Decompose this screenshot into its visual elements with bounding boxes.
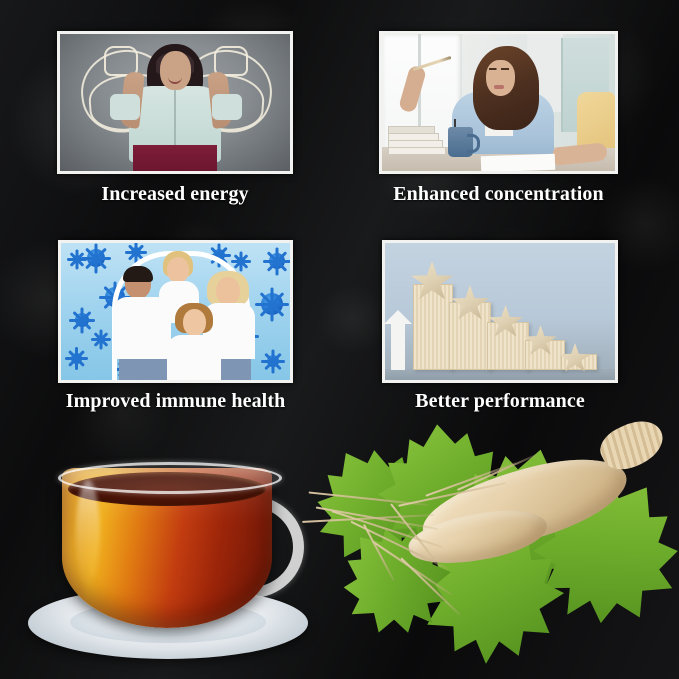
- family-member-older-girl: [165, 305, 223, 380]
- benefit-card-enhanced-concentration: Enhanced concentration: [379, 31, 618, 174]
- benefit-label-increased-energy: Increased energy: [57, 183, 293, 206]
- glass-highlight: [76, 480, 100, 590]
- virus-particle: [71, 353, 82, 364]
- virus-particle: [261, 293, 283, 315]
- tea-cup-illustration: [18, 450, 318, 665]
- photo-frame: [382, 240, 618, 383]
- woman-sleeve-left: [110, 94, 140, 120]
- person-shirt: [167, 335, 221, 380]
- person-head: [167, 257, 189, 283]
- benefit-image-improved-immune-health: [61, 243, 290, 380]
- benefit-image-increased-energy: [60, 34, 290, 171]
- photo-frame: [58, 240, 293, 383]
- surface: [385, 369, 615, 380]
- ginseng-root-illustration: [300, 418, 679, 679]
- book-stack: [388, 129, 444, 155]
- benefit-image-better-performance: [385, 243, 615, 380]
- product-hero-image: [0, 418, 679, 679]
- woman-face: [160, 51, 191, 90]
- virus-particle: [87, 249, 105, 267]
- person-head: [183, 309, 206, 336]
- photo-frame: [57, 31, 293, 174]
- benefit-card-increased-energy: Increased energy: [57, 31, 293, 174]
- woman-skirt: [133, 145, 217, 171]
- virus-particle: [131, 247, 141, 257]
- wooden-block-step-1: [413, 284, 453, 370]
- benefit-label-better-performance: Better performance: [382, 390, 618, 413]
- upward-arrow-icon: [391, 322, 405, 370]
- virus-particle: [97, 335, 105, 343]
- virus-particle: [269, 253, 285, 269]
- person-jeans: [119, 359, 167, 380]
- woman-sleeve-right: [212, 94, 242, 120]
- person-hair: [123, 266, 153, 282]
- virus-particle: [73, 255, 81, 263]
- chair-cushion: [577, 92, 615, 148]
- benefit-label-enhanced-concentration: Enhanced concentration: [369, 183, 628, 206]
- woman-brows: [489, 68, 509, 70]
- benefit-image-enhanced-concentration: [382, 34, 615, 171]
- person-head: [216, 277, 240, 305]
- woman-lips: [494, 85, 504, 89]
- wooden-block-step-2: [449, 302, 491, 370]
- virus-particle: [75, 313, 89, 327]
- benefit-label-improved-immune-health: Improved immune health: [28, 390, 323, 413]
- paper-sheet: [480, 154, 555, 171]
- photo-frame: [379, 31, 618, 174]
- virus-particle: [267, 355, 279, 367]
- woman-face: [486, 60, 515, 96]
- benefit-card-better-performance: Better performance: [382, 240, 618, 383]
- benefit-card-improved-immune-health: Improved immune health: [58, 240, 293, 383]
- virus-particle: [237, 257, 245, 265]
- coffee-mug: [448, 127, 473, 157]
- product-benefits-poster: Increased energy: [0, 0, 679, 679]
